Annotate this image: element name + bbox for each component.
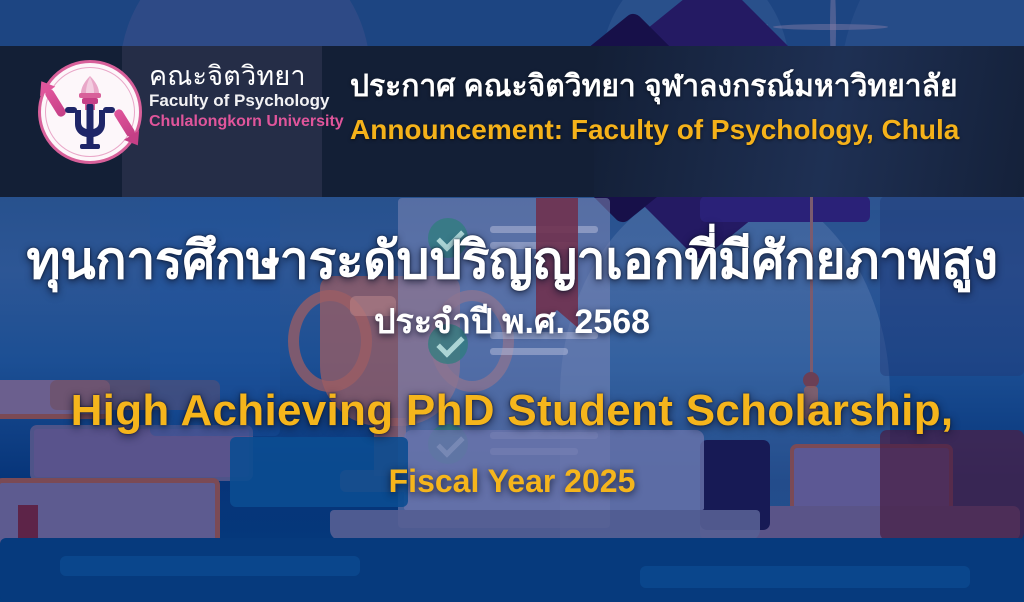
logo-english-name: Faculty of Psychology — [149, 90, 334, 111]
desk-highlight — [60, 556, 360, 576]
laptop-base — [330, 510, 760, 540]
main-subtitle-english: Fiscal Year 2025 — [0, 462, 1024, 500]
main-title-block: ทุนการศึกษาระดับปริญญาเอกที่มีศักยภาพสูง… — [0, 232, 1024, 500]
psi-symbol-icon — [38, 60, 142, 164]
graduation-cap-band — [700, 196, 870, 222]
main-subtitle-thai: ประจำปี พ.ศ. 2568 — [0, 302, 1024, 343]
faculty-logo — [38, 60, 142, 164]
main-title-thai: ทุนการศึกษาระดับปริญญาเอกที่มีศักยภาพสูง — [0, 232, 1024, 290]
header-english-line: Announcement: Faculty of Psychology, Chu… — [350, 112, 1010, 148]
logo-thai-name: คณะจิตวิทยา — [149, 62, 334, 90]
sparkle-icon — [773, 24, 888, 30]
desk-highlight — [640, 566, 970, 588]
header-announcement: ประกาศ คณะจิตวิทยา จุฬาลงกรณ์มหาวิทยาลัย… — [350, 68, 1010, 148]
header-thai-line: ประกาศ คณะจิตวิทยา จุฬาลงกรณ์มหาวิทยาลัย — [350, 68, 1010, 106]
main-title-english: High Achieving PhD Student Scholarship, — [0, 385, 1024, 438]
logo-university-name: Chulalongkorn University — [149, 112, 334, 132]
logo-wordmark: คณะจิตวิทยา Faculty of Psychology Chulal… — [149, 62, 334, 132]
scholarship-announcement-banner: คณะจิตวิทยา Faculty of Psychology Chulal… — [0, 0, 1024, 602]
